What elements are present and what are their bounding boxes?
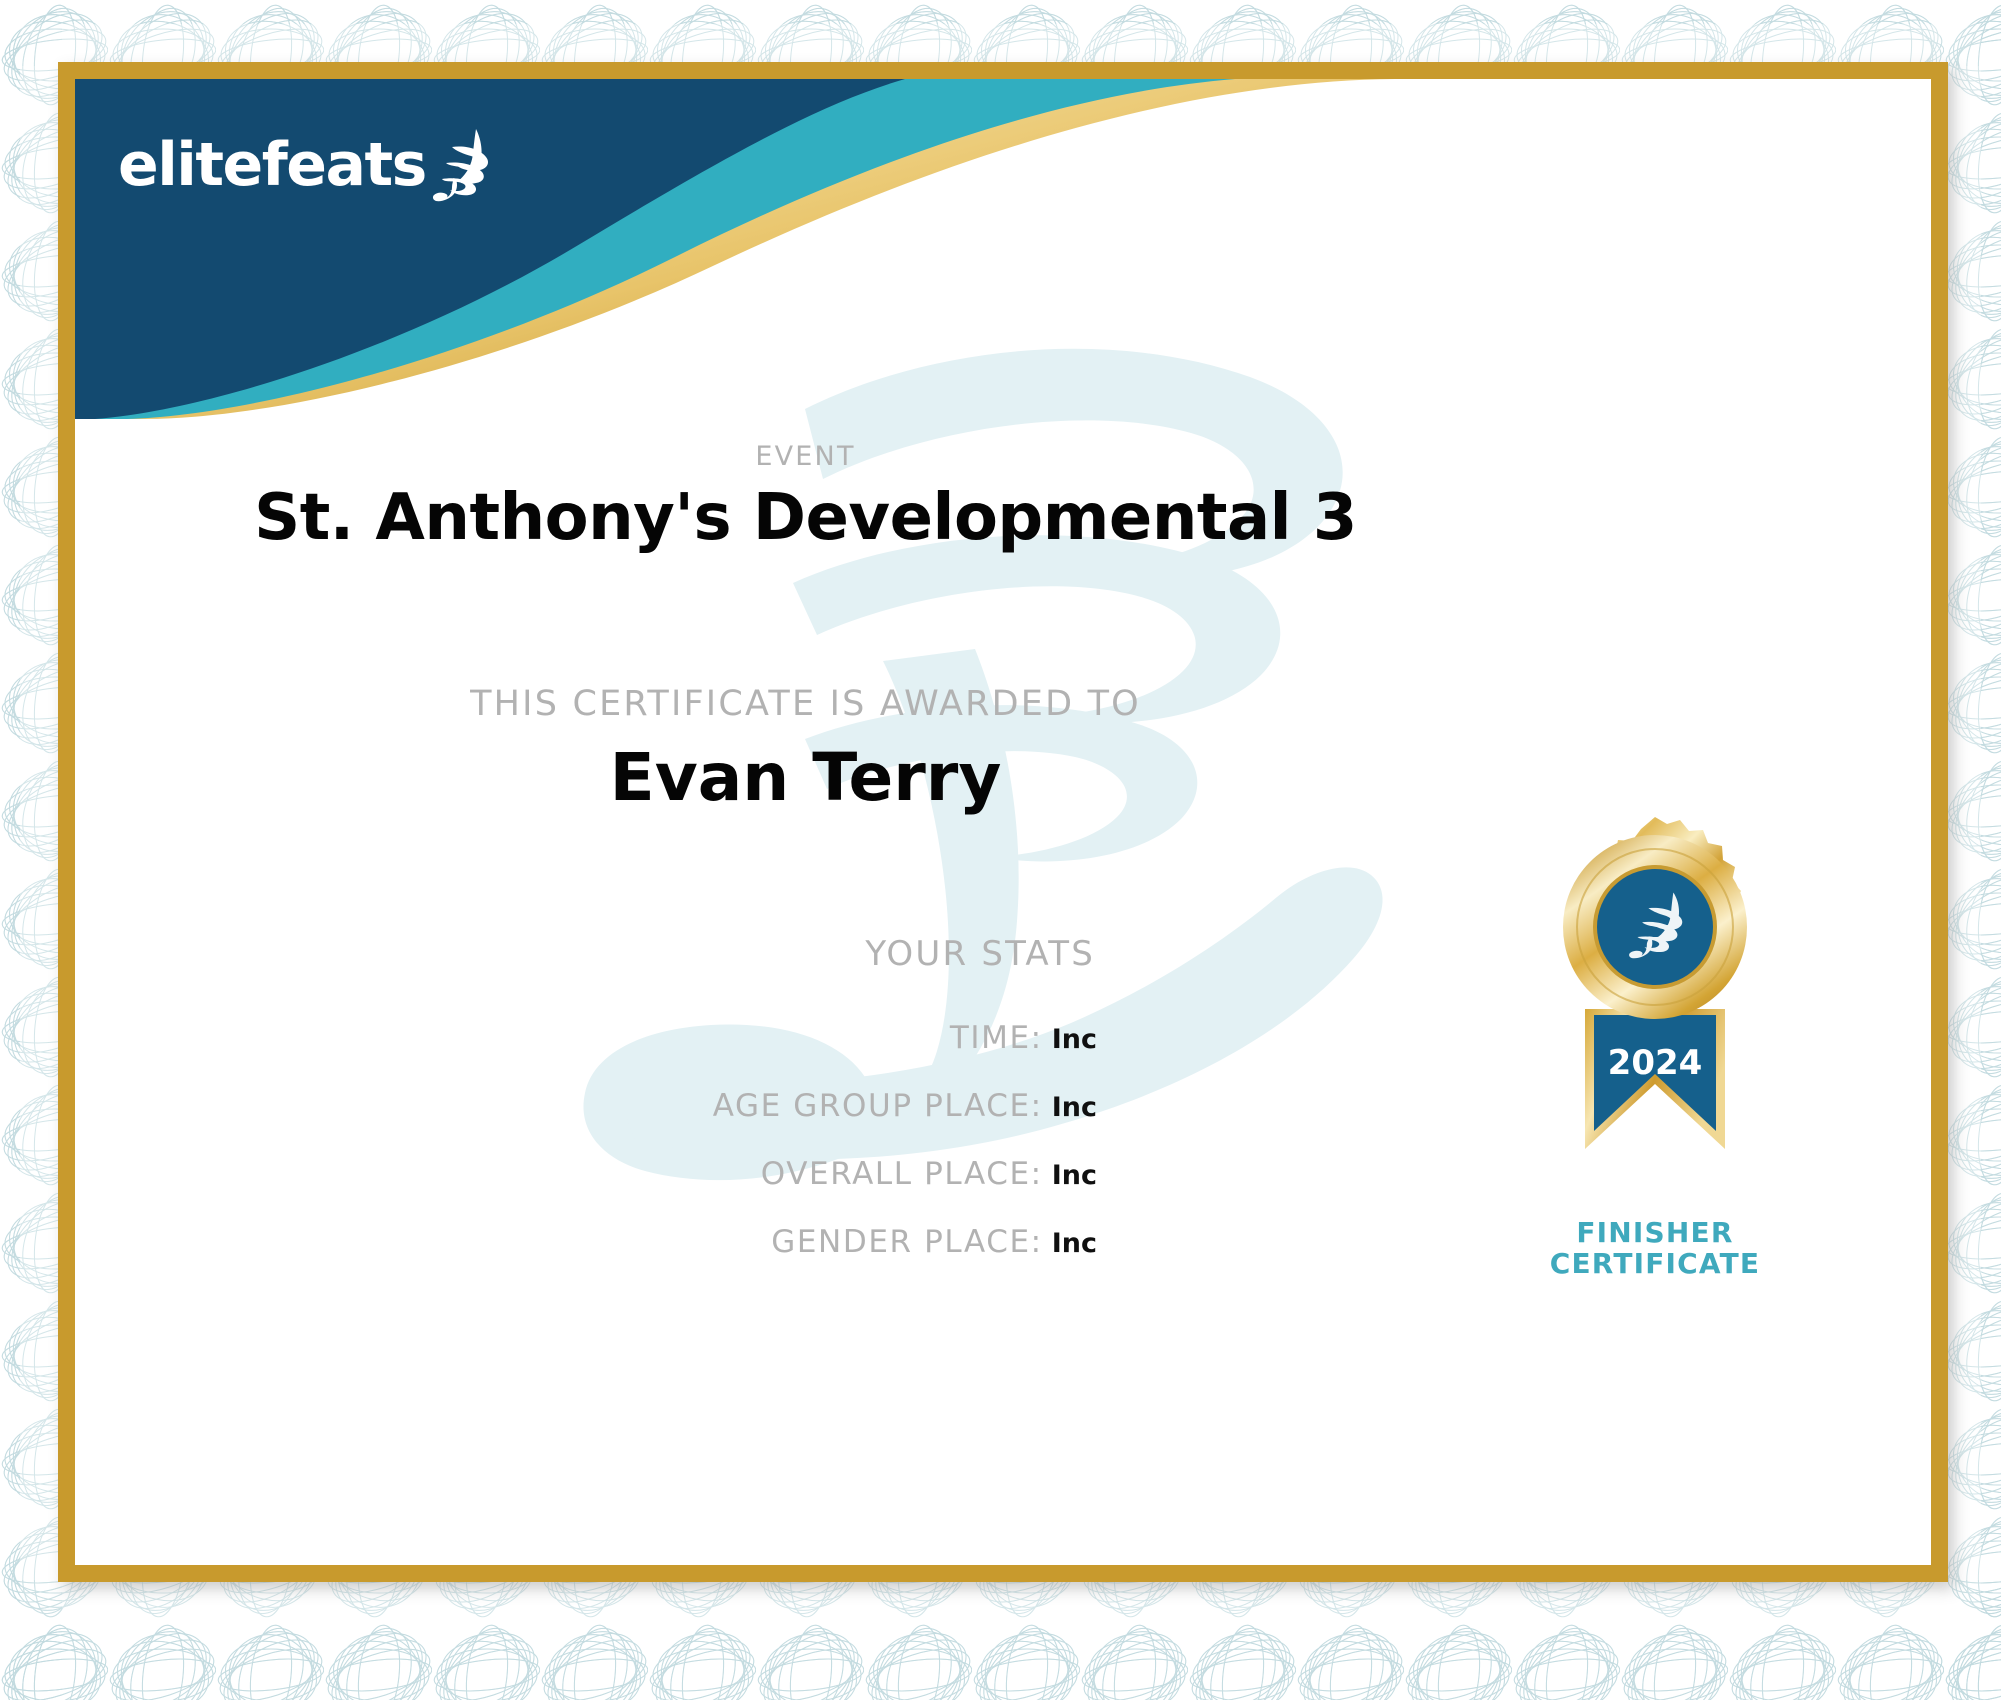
stat-row-gender-place: GENDER PLACE:Inc: [75, 1208, 1097, 1276]
stats-list: TIME:Inc AGE GROUP PLACE:Inc OVERALL PLA…: [75, 1004, 1097, 1276]
stat-row-age-group-place: AGE GROUP PLACE:Inc: [75, 1072, 1097, 1140]
certificate-card: elitefeats EVENT St. Anthony's Developme…: [58, 62, 1948, 1582]
brand-name: elitefeats: [118, 135, 426, 195]
brand-logo: elitefeats: [118, 127, 496, 203]
stat-row-time: TIME:Inc: [75, 1004, 1097, 1072]
stat-value: Inc: [1052, 1024, 1097, 1055]
stat-value: Inc: [1052, 1160, 1097, 1191]
stats-label: YOUR STATS: [75, 934, 1095, 974]
awarded-label: THIS CERTIFICATE IS AWARDED TO: [75, 684, 1536, 724]
badge-caption-line2: CERTIFICATE: [1505, 1248, 1805, 1279]
medal-ribbon-graphic: 2024: [1530, 809, 1780, 1209]
winged-foot-icon: [432, 127, 496, 203]
event-label: EVENT: [75, 441, 1536, 472]
recipient-name: Evan Terry: [75, 739, 1536, 816]
stat-label: OVERALL PLACE:: [761, 1156, 1043, 1192]
stat-row-overall-place: OVERALL PLACE:Inc: [75, 1140, 1097, 1208]
certificate-inner: elitefeats EVENT St. Anthony's Developme…: [75, 79, 1931, 1565]
event-name: St. Anthony's Developmental 3: [75, 481, 1536, 555]
certificate-page: elitefeats EVENT St. Anthony's Developme…: [0, 0, 2001, 1700]
badge-caption-line1: FINISHER: [1505, 1217, 1805, 1248]
badge-caption: FINISHER CERTIFICATE: [1505, 1217, 1805, 1280]
stat-value: Inc: [1052, 1228, 1097, 1259]
stat-label: AGE GROUP PLACE:: [713, 1088, 1043, 1124]
finisher-badge: 2024: [1505, 809, 1805, 1280]
badge-year: 2024: [1608, 1043, 1703, 1083]
stat-label: TIME:: [950, 1020, 1043, 1056]
certificate-content: EVENT St. Anthony's Developmental 3 THIS…: [75, 79, 1931, 1565]
stat-value: Inc: [1052, 1092, 1097, 1123]
stat-label: GENDER PLACE:: [771, 1224, 1042, 1260]
